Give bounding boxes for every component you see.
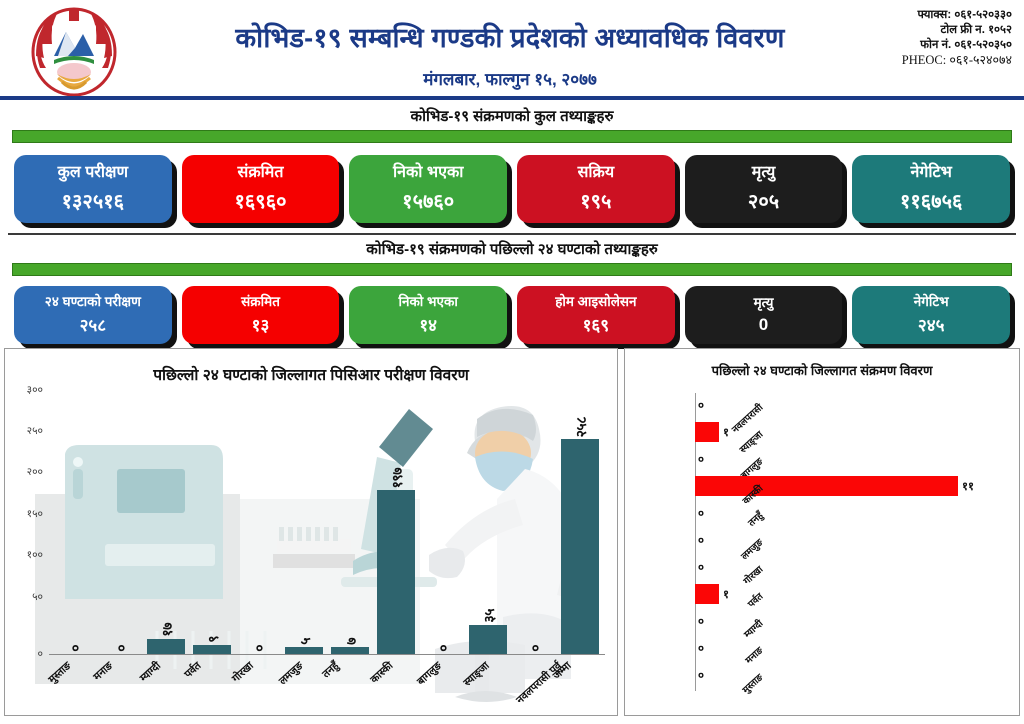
bar-value: ०: [698, 560, 704, 575]
bar-fill: [695, 584, 719, 604]
charts-row: पछिल्लो २४ घण्टाको जिल्लागत पिसिआर परीक्…: [0, 348, 1024, 716]
row-baglung[interactable]: ० बागलुङ: [695, 449, 704, 469]
x-label-gorkha: गोरखा: [229, 659, 256, 686]
bar-value: ०: [698, 533, 704, 548]
infection-by-district-chart: पछिल्लो २४ घण्टाको जिल्लागत संक्रमण विवर…: [624, 348, 1020, 716]
row-manang[interactable]: ० मनाङ: [695, 638, 704, 658]
bar-value: १७: [157, 623, 176, 637]
stat-card-infected[interactable]: संक्रमित१६९६०: [182, 155, 340, 223]
stat-label: मृत्यु: [752, 295, 776, 311]
row-nawalparasi[interactable]: ० नवलपरासी: [695, 395, 704, 415]
total-stats-cards: कुल परीक्षण१३२५१६ संक्रमित१६९६० निको भएक…: [0, 155, 1024, 223]
row-myagdi[interactable]: ० म्याग्दी: [695, 611, 704, 631]
contact-info: फ्याक्स: ०६१-५२०३३० टोल फ्री न. १०५२ फोन…: [902, 8, 1012, 68]
bar-value: ९: [203, 636, 222, 643]
bar-parbat[interactable]: ९: [193, 636, 231, 654]
row-tanahun[interactable]: ० तनहुँ: [695, 503, 704, 523]
green-divider-bar: [12, 130, 1012, 143]
stat-card-home-isolation-24h[interactable]: होम आइसोलेसन१६९: [517, 286, 675, 344]
stat-card-infected-24h[interactable]: संक्रमित१३: [182, 286, 340, 344]
bar-mustang[interactable]: ०: [55, 645, 93, 654]
bar-value: ०: [698, 641, 704, 656]
green-divider-bar-2: [12, 263, 1012, 276]
x-label-kaski: कास्की: [368, 659, 396, 687]
bar-fill: [561, 439, 599, 654]
x-label-parbat: पर्वत: [182, 659, 205, 681]
stat-label: नेगेटिभ: [909, 164, 954, 182]
bar-tanahun[interactable]: ७: [331, 638, 369, 654]
bar-value: १९७: [387, 468, 406, 488]
section-divider: [8, 233, 1016, 235]
bar-fill: [285, 647, 323, 654]
stat-card-negative[interactable]: नेगेटिभ११६७५६: [852, 155, 1010, 223]
stat-card-total-tests[interactable]: कुल परीक्षण१३२५१६: [14, 155, 172, 223]
y-tick-250: २५०: [9, 424, 43, 438]
bar-value: १: [723, 587, 729, 602]
page-title: कोभिड-१९ सम्बन्धि गण्डकी प्रदेशको अध्याव…: [130, 18, 890, 55]
header-divider: [0, 96, 1024, 100]
pcr-by-district-chart: पछिल्लो २४ घण्टाको जिल्लागत पिसिआर परीक्…: [4, 348, 618, 716]
y-tick-200: २००: [9, 465, 43, 479]
bar-value: ०: [433, 645, 452, 652]
row-mustang[interactable]: ० मुस्ताङ: [695, 665, 704, 685]
x-axis-line: [49, 654, 605, 655]
bar-value: ०: [65, 645, 84, 652]
stat-label: सक्रिय: [576, 164, 617, 182]
stat-card-tests-24h[interactable]: २४ घण्टाको परीक्षण२५८: [14, 286, 172, 344]
bar-value: ७: [341, 638, 360, 645]
stat-label: होम आइसोलेसन: [553, 294, 638, 310]
bar-gorkha[interactable]: ०: [239, 645, 277, 654]
stat-label: नेगेटिभ: [912, 294, 951, 310]
pcr-bars: ० ० १७ ९ ० ५ ७ १९७ ० ३५ ० २५८: [49, 404, 605, 654]
report-date: मंगलबार, फाल्गुन १५, २०७७: [130, 67, 890, 90]
last-24h-title: कोभिड-१९ संक्रमणको पछिल्लो २४ घण्टाको तथ…: [0, 239, 1024, 259]
bar-manang[interactable]: ०: [101, 645, 139, 654]
last-24h-section: कोभिड-१९ संक्रमणको पछिल्लो २४ घण्टाको तथ…: [0, 233, 1024, 344]
row-kaski[interactable]: ११ कास्की: [695, 476, 974, 496]
fax-number: फ्याक्स: ०६१-५२०३३०: [902, 8, 1012, 23]
y-tick-300: ३००: [9, 383, 43, 397]
stat-label: निको भएका: [396, 294, 459, 310]
bar-value: ११: [962, 479, 974, 494]
bar-value: ०: [698, 668, 704, 683]
stat-value: १५७६०: [402, 187, 454, 214]
stat-label: संक्रमित: [236, 164, 286, 182]
y-tick-150: १५०: [9, 507, 43, 521]
last-24h-cards: २४ घण्टाको परीक्षण२५८ संक्रमित१३ निको भए…: [0, 286, 1024, 344]
row-gorkha[interactable]: ० गोरखा: [695, 557, 704, 577]
bar-value: ०: [525, 645, 544, 652]
page-header: कोभिड-१९ सम्बन्धि गण्डकी प्रदेशको अध्याव…: [0, 0, 1024, 98]
bar-value: ०: [698, 452, 704, 467]
pcr-plot-area: ३०० २५० २०० १५० १०० ५० ० ० ० १७ ९ ० ५ ७ …: [5, 387, 618, 716]
bar-value: ०: [111, 645, 130, 652]
row-lamjung[interactable]: ० लमजुङ: [695, 530, 704, 550]
x-label-baglung: बागलुङ: [414, 659, 445, 688]
stat-card-negative-24h[interactable]: नेगेटिभ२४५: [852, 286, 1010, 344]
bar-value: ०: [698, 506, 704, 521]
bar-fill: [193, 645, 231, 654]
stat-card-active[interactable]: सक्रिय१९५: [517, 155, 675, 223]
bar-value: ५: [295, 638, 314, 645]
bar-value: ०: [249, 645, 268, 652]
nepal-government-emblem-icon: [28, 4, 120, 96]
bar-myagdi[interactable]: १७: [147, 623, 185, 654]
bar-total[interactable]: २५८: [561, 417, 599, 654]
y-tick-50: ५०: [9, 590, 43, 604]
dashboard-page: कोभिड-१९ सम्बन्धि गण्डकी प्रदेशको अध्याव…: [0, 0, 1024, 724]
bar-value: ३५: [479, 609, 498, 623]
stat-value: १९५: [580, 187, 611, 214]
row-syangja[interactable]: १ स्याङ्जा: [695, 422, 729, 442]
x-label-mustang: मुस्ताङ: [46, 659, 75, 687]
y-tick-0: ०: [9, 647, 43, 661]
stat-value: १३: [252, 313, 270, 336]
phone-number: फोन नं. ०६१-५२०३५०: [902, 38, 1012, 53]
x-label-lamjung: लमजुङ: [276, 659, 306, 688]
y-tick-100: १००: [9, 548, 43, 562]
total-stats-title: कोभिड-१९ संक्रमणको कुल तथ्याङ्कहरु: [0, 106, 1024, 126]
infection-chart-title: पछिल्लो २४ घण्टाको जिल्लागत संक्रमण विवर…: [625, 349, 1019, 379]
x-label-manang: मनाङ: [91, 659, 116, 684]
stat-label: कुल परीक्षण: [56, 164, 130, 182]
stat-value: २४५: [918, 313, 945, 336]
toll-free-number: टोल फ्री न. १०५२: [902, 23, 1012, 38]
stat-value: १६९६०: [235, 187, 287, 214]
stat-value: ११६७५६: [900, 187, 962, 214]
x-label-syangja: स्याङ्जा: [461, 659, 493, 690]
pcr-chart-title: पछिल्लो २४ घण्टाको जिल्लागत पिसिआर परीक्…: [5, 349, 617, 385]
stat-value: १४: [419, 313, 437, 336]
bar-baglung[interactable]: ०: [423, 645, 461, 654]
bar-value: ०: [698, 398, 704, 413]
stat-value: 0: [759, 315, 768, 335]
stat-card-deaths-24h[interactable]: मृत्यु0: [685, 286, 843, 344]
stat-label: २४ घण्टाको परीक्षण: [43, 294, 143, 310]
bar-kaski[interactable]: १९७: [377, 468, 415, 654]
stat-label: निको भएका: [391, 164, 465, 182]
stat-value: १३२५१६: [62, 187, 124, 214]
bar-fill: [695, 476, 958, 496]
bar-syangja[interactable]: ३५: [469, 609, 507, 654]
stat-label: मृत्यु: [750, 164, 778, 182]
stat-card-recovered[interactable]: निको भएका१५७६०: [349, 155, 507, 223]
bar-value: २५८: [571, 417, 590, 437]
stat-value: २०५: [748, 187, 779, 214]
bar-fill: [377, 490, 415, 654]
bar-fill: [695, 422, 719, 442]
row-parbat[interactable]: १ पर्वत: [695, 584, 729, 604]
x-label-tanahun: तनहुँ: [319, 659, 341, 681]
stat-value: १६९: [583, 313, 610, 336]
total-stats-section: कोभिड-१९ संक्रमणको कुल तथ्याङ्कहरु कुल प…: [0, 106, 1024, 223]
stat-label: संक्रमित: [239, 294, 282, 310]
x-label-myagdi: म्याग्दी: [137, 659, 164, 685]
bar-fill: [469, 625, 507, 654]
infection-plot-area: ० नवलपरासी १ स्याङ्जा ० बागलुङ ११ कास्की: [625, 383, 1020, 716]
pheoc-number: PHEOC: ०६१-५२४०७४: [902, 53, 1012, 68]
stat-card-deaths[interactable]: मृत्यु२०५: [685, 155, 843, 223]
bar-value: १: [723, 425, 729, 440]
bar-nawalparasi-east[interactable]: ०: [515, 645, 553, 654]
bar-fill: [147, 639, 185, 654]
pcr-x-labels: मुस्ताङ मनाङ म्याग्दी पर्वत गोरखा लमजुङ …: [49, 659, 605, 716]
bar-fill: [331, 647, 369, 654]
header-title-block: कोभिड-१९ सम्बन्धि गण्डकी प्रदेशको अध्याव…: [130, 18, 890, 90]
stat-value: २५८: [80, 313, 107, 336]
stat-card-recovered-24h[interactable]: निको भएका१४: [349, 286, 507, 344]
bar-lamjung[interactable]: ५: [285, 638, 323, 654]
bar-value: ०: [698, 614, 704, 629]
